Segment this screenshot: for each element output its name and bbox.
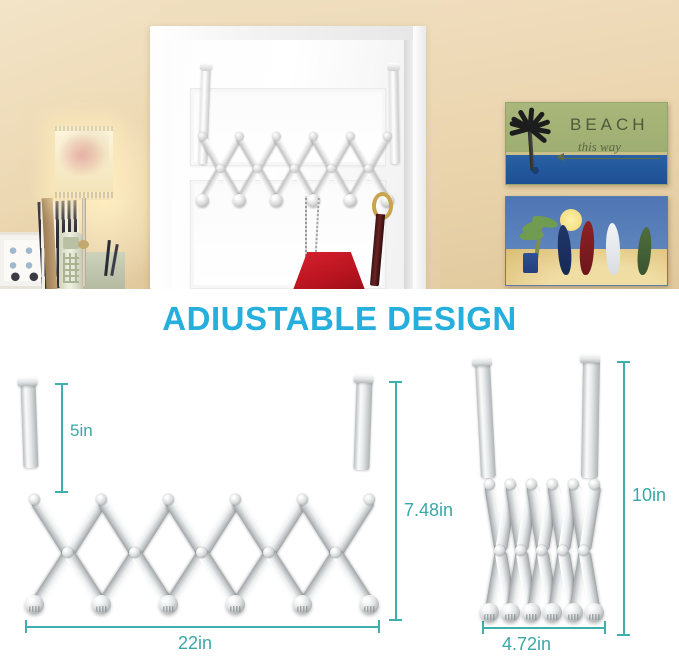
collapsed-rack-node-mid-1 — [515, 545, 526, 556]
diagram-collapsed-rack: 10in 4.72in — [430, 355, 679, 667]
expanded-hanger-lip-right — [353, 374, 373, 384]
collapsed-rack-node-top-1 — [505, 479, 516, 490]
dim-5in-cap-bottom — [55, 491, 68, 493]
dim-22in-label: 22in — [178, 633, 212, 654]
expanded-rack-node-mid-2 — [196, 547, 207, 558]
expanded-rack-hook-4 — [293, 595, 312, 614]
infographic-page: BEACH this way ADIUSTABLE DESIGN — [0, 0, 679, 667]
diagram-expanded-rack: 5in 7.48in 22in — [0, 355, 430, 667]
collapsed-rack-hook-4 — [564, 603, 583, 622]
dim-5in-cap-top — [55, 383, 68, 385]
dim-22in-cap-left — [25, 620, 27, 633]
collapsed-rack-node-top-5 — [589, 479, 600, 490]
collapsed-rack-hook-3 — [543, 603, 562, 622]
collapsed-rack-hook-2 — [522, 603, 541, 622]
expanded-rack-node-mid-3 — [263, 547, 274, 558]
photo-rack-node-mid-4 — [364, 164, 373, 173]
photo-rack-node-mid-3 — [327, 164, 336, 173]
expanded-rack-node-mid-4 — [330, 547, 341, 558]
surfboard-painting-art — [505, 196, 668, 286]
dim-748in-cap-bottom — [389, 619, 402, 621]
page-title: ADIUSTABLE DESIGN — [0, 300, 679, 338]
dim-10in-line — [623, 361, 625, 636]
coconut-icon — [532, 167, 539, 174]
photo-rack-node-top-1 — [235, 132, 244, 141]
dim-10in-cap-bottom — [617, 634, 630, 636]
photo-rack-node-mid-0 — [216, 164, 225, 173]
expanded-rack-node-top-1 — [96, 494, 107, 505]
dim-22in-line — [25, 626, 380, 628]
expanded-rack-hook-2 — [159, 595, 178, 614]
expanded-hanger-left — [21, 383, 39, 468]
dim-10in-label: 10in — [632, 485, 666, 506]
phone-keypad — [63, 253, 79, 283]
expanded-rack-node-mid-1 — [129, 547, 140, 558]
dim-748in-cap-top — [389, 381, 402, 383]
beach-sign-title: BEACH — [570, 115, 649, 135]
collapsed-hanger-lip-left — [472, 357, 492, 367]
collapsed-hanger-left — [475, 363, 496, 479]
lamp-switch — [78, 240, 89, 249]
collapsed-rack-hook-0 — [480, 603, 499, 622]
expanded-rack-hook-5 — [360, 595, 379, 614]
expanded-rack-hook-1 — [92, 595, 111, 614]
collapsed-rack-node-mid-2 — [536, 545, 547, 556]
dim-472in-cap-right — [604, 621, 606, 634]
door-edge — [404, 40, 413, 289]
left-arrow-icon — [556, 153, 564, 161]
photo-rack-node-top-2 — [272, 132, 281, 141]
dim-22in-cap-right — [378, 620, 380, 633]
photo-rack-node-top-3 — [309, 132, 318, 141]
photo-rack-node-mid-1 — [253, 164, 262, 173]
collapsed-rack-hook-5 — [585, 603, 604, 622]
dim-472in-line — [482, 627, 606, 629]
beach-sign-art: BEACH this way — [505, 102, 668, 185]
photo-rack-lattice — [196, 128, 396, 202]
expanded-rack-node-top-3 — [230, 494, 241, 505]
collapsed-hanger-right — [581, 360, 600, 478]
photo-rack-hook-4 — [344, 194, 357, 207]
photo-hanger-lip-left — [200, 63, 213, 71]
photo-rack-hook-2 — [270, 194, 283, 207]
dim-472in-cap-left — [482, 621, 484, 634]
expanded-rack-node-top-4 — [297, 494, 308, 505]
photo-rack-node-top-5 — [383, 132, 392, 141]
dim-748in-line — [395, 381, 397, 621]
phone-screen — [63, 237, 79, 249]
palm-tree-fronds-icon — [512, 115, 552, 141]
collapsed-rack-hook-1 — [501, 603, 520, 622]
beach-chair-icon — [523, 253, 538, 273]
expanded-rack-hook-3 — [226, 595, 245, 614]
collapsed-rack-node-top-2 — [526, 479, 537, 490]
photo-rack-hook-0 — [196, 194, 209, 207]
collapsed-rack-node-top-4 — [568, 479, 579, 490]
expanded-rack-node-top-0 — [29, 494, 40, 505]
collapsed-rack-node-top-3 — [547, 479, 558, 490]
collapsed-hanger-lip-right — [580, 354, 600, 363]
door-jamb-right — [413, 26, 426, 289]
dim-10in-cap-top — [617, 361, 630, 363]
expanded-hanger-right — [353, 380, 372, 471]
dim-472in-label: 4.72in — [502, 634, 551, 655]
expanded-hanger-lip-left — [17, 377, 37, 387]
bead-chain-1 — [305, 196, 307, 258]
photo-rack-node-top-4 — [346, 132, 355, 141]
lamp-shade — [55, 126, 113, 200]
photo-rack-node-top-0 — [198, 132, 207, 141]
dim-5in-label: 5in — [70, 421, 93, 441]
collapsed-rack-node-mid-0 — [494, 545, 505, 556]
product-lifestyle-photo: BEACH this way — [0, 0, 679, 289]
beach-sign-arrow-line — [558, 158, 660, 159]
dim-5in-line — [61, 383, 63, 493]
expanded-rack-node-mid-0 — [62, 547, 73, 558]
collapsed-rack-node-mid-4 — [578, 545, 589, 556]
photo-rack-hook-1 — [233, 194, 246, 207]
expanded-rack-hook-0 — [25, 595, 44, 614]
expanded-rack-node-top-5 — [364, 494, 375, 505]
photo-hanger-lip-right — [387, 63, 400, 71]
collapsed-rack-node-top-0 — [484, 479, 495, 490]
collapsed-rack-node-mid-3 — [557, 545, 568, 556]
expanded-rack-node-top-2 — [163, 494, 174, 505]
photo-rack-node-mid-2 — [290, 164, 299, 173]
surfboard-white — [605, 223, 621, 275]
beach-sign-subtitle: this way — [578, 139, 621, 155]
